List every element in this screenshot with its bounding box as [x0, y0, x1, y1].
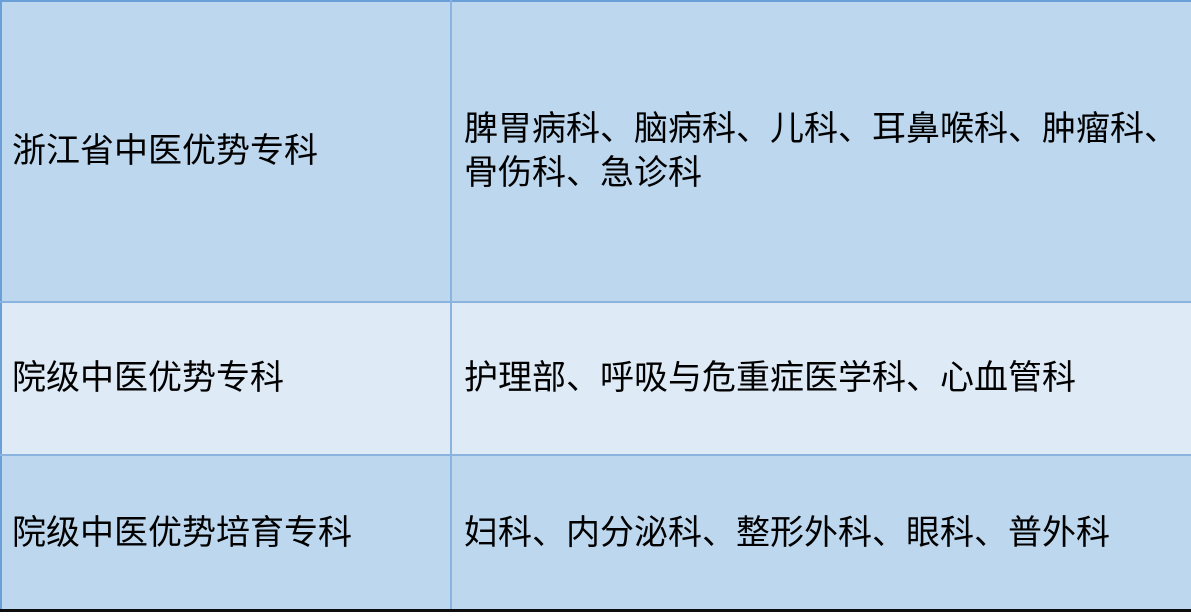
table-cell-category: 浙江省中医优势专科	[1, 1, 451, 302]
table-row: 浙江省中医优势专科 脾胃病科、脑病科、儿科、耳鼻喉科、肿瘤科、骨伤科、急诊科	[1, 1, 1191, 302]
table-container: 浙江省中医优势专科 脾胃病科、脑病科、儿科、耳鼻喉科、肿瘤科、骨伤科、急诊科 院…	[0, 0, 1191, 616]
departments-label: 妇科、内分泌科、整形外科、眼科、普外科	[464, 511, 1183, 555]
category-label: 院级中医优势专科	[12, 356, 444, 400]
departments-label: 护理部、呼吸与危重症医学科、心血管科	[464, 356, 1183, 400]
table-cell-category: 院级中医优势培育专科	[1, 455, 451, 610]
table-body: 浙江省中医优势专科 脾胃病科、脑病科、儿科、耳鼻喉科、肿瘤科、骨伤科、急诊科 院…	[1, 1, 1191, 611]
table-cell-departments: 护理部、呼吸与危重症医学科、心血管科	[451, 302, 1191, 456]
departments-label: 脾胃病科、脑病科、儿科、耳鼻喉科、肿瘤科、骨伤科、急诊科	[464, 107, 1183, 195]
table-cell-category: 院级中医优势专科	[1, 302, 451, 456]
table-row: 院级中医优势培育专科 妇科、内分泌科、整形外科、眼科、普外科	[1, 455, 1191, 610]
table-cell-departments: 妇科、内分泌科、整形外科、眼科、普外科	[451, 455, 1191, 610]
category-label: 浙江省中医优势专科	[12, 129, 444, 173]
category-label: 院级中医优势培育专科	[12, 511, 444, 555]
table-cell-departments: 脾胃病科、脑病科、儿科、耳鼻喉科、肿瘤科、骨伤科、急诊科	[451, 1, 1191, 302]
specialty-table: 浙江省中医优势专科 脾胃病科、脑病科、儿科、耳鼻喉科、肿瘤科、骨伤科、急诊科 院…	[0, 0, 1191, 612]
table-row: 院级中医优势专科 护理部、呼吸与危重症医学科、心血管科	[1, 302, 1191, 456]
